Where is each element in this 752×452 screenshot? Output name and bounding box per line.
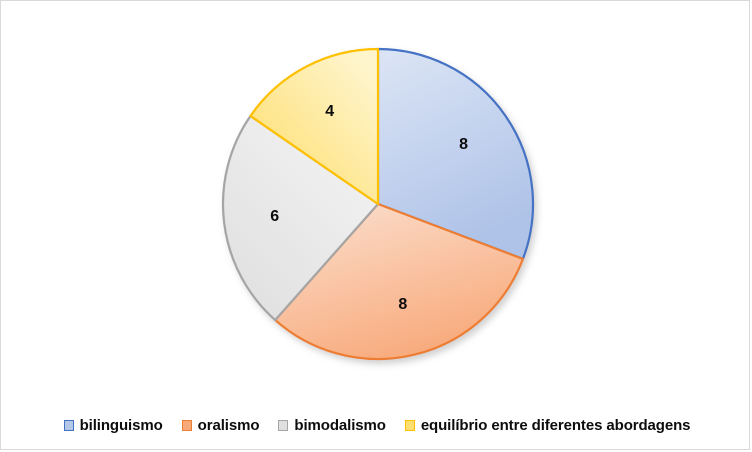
data-label-oralismo: 8 <box>398 296 407 313</box>
legend-swatch-icon-oralismo <box>182 420 192 431</box>
chart-frame: 8 8 6 4 bilinguismo oralismo bimodalismo… <box>0 0 750 450</box>
chart-legend: bilinguismo oralismo bimodalismo equilíb… <box>1 403 752 447</box>
legend-item-equilibrio[interactable]: equilíbrio entre diferentes abordagens <box>405 417 691 434</box>
pie-chart-plot-area: 8 8 6 4 <box>1 1 752 397</box>
pie-slices-group <box>223 49 533 359</box>
legend-swatch-icon-equilibrio <box>405 420 415 431</box>
data-label-equilibrio: 4 <box>325 103 334 120</box>
legend-label-equilibrio: equilíbrio entre diferentes abordagens <box>421 417 691 434</box>
legend-item-bimodalismo[interactable]: bimodalismo <box>278 417 385 434</box>
legend-swatch-icon-bilinguismo <box>64 420 74 431</box>
legend-label-bilinguismo: bilinguismo <box>80 417 163 434</box>
legend-item-oralismo[interactable]: oralismo <box>182 417 260 434</box>
legend-label-oralismo: oralismo <box>198 417 260 434</box>
legend-label-bimodalismo: bimodalismo <box>294 417 385 434</box>
legend-swatch-icon-bimodalismo <box>278 420 288 431</box>
legend-item-bilinguismo[interactable]: bilinguismo <box>64 417 163 434</box>
data-label-bimodalismo: 6 <box>270 208 279 225</box>
pie-chart-svg: 8 8 6 4 <box>1 1 752 397</box>
data-label-bilinguismo: 8 <box>459 136 468 153</box>
